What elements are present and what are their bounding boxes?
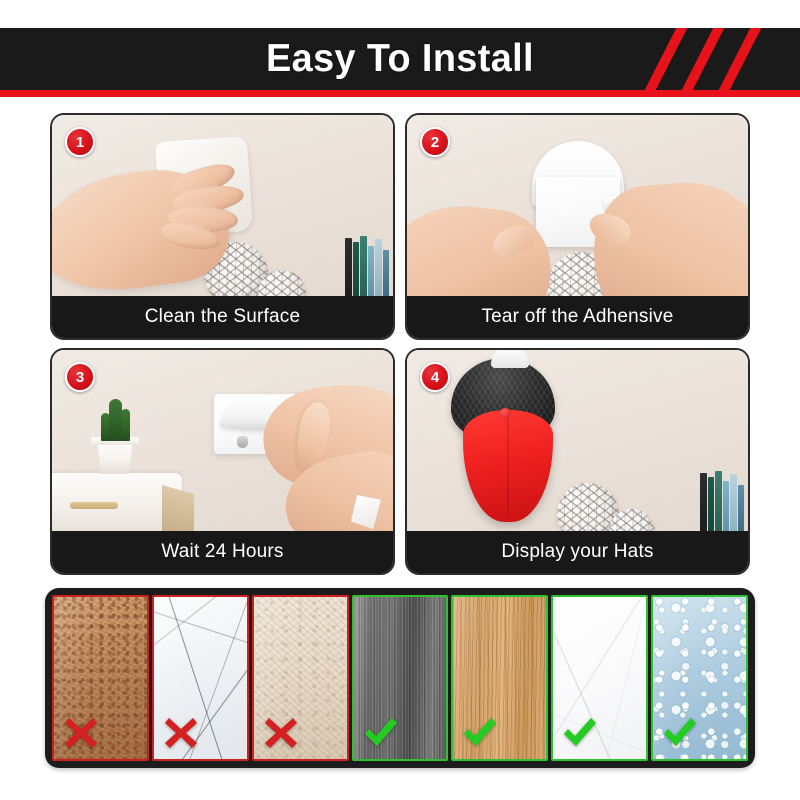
page-title: Easy To Install: [12, 37, 788, 81]
step-caption: Wait 24 Hours: [52, 531, 393, 573]
cross-icon: [61, 713, 101, 753]
step-caption: Display your Hats: [407, 531, 748, 573]
header-banner: Easy To Install: [0, 28, 800, 90]
book-spine: [375, 239, 382, 296]
step-number-badge: 3: [65, 362, 95, 392]
surface-swatch-marble: [551, 595, 648, 761]
step-3-photo: 3: [52, 350, 393, 531]
book-spine: [383, 250, 390, 296]
step-card-3: 3 Wait 24 Hours: [50, 348, 395, 575]
hook-peg: [237, 436, 248, 448]
wall-hook: [491, 350, 529, 368]
cap-top-button: [500, 408, 511, 419]
nightstand-side-panel: [162, 485, 194, 531]
book-spine: [345, 238, 352, 296]
check-icon: [660, 713, 700, 753]
check-icon: [460, 713, 500, 753]
check-icon: [560, 713, 600, 753]
book-spine: [715, 471, 722, 531]
step-caption: Tear off the Adhensive: [407, 296, 748, 338]
surface-swatch-wood: [451, 595, 548, 761]
header-accent-rule: [0, 90, 800, 97]
cross-icon: [261, 713, 301, 753]
book-spine: [700, 473, 707, 531]
step-card-1: 1 Clean the Surface: [50, 113, 395, 340]
bookshelf-decor: [700, 469, 744, 531]
step-number-badge: 1: [65, 127, 95, 157]
book-spine: [738, 485, 745, 531]
cross-icon: [161, 713, 201, 753]
book-spine: [360, 236, 367, 296]
book-spine: [730, 474, 737, 531]
step-number-badge: 2: [420, 127, 450, 157]
cap-seam: [507, 418, 509, 514]
surface-swatch-textured-stucco: [252, 595, 349, 761]
book-spine: [353, 242, 360, 296]
install-steps-grid: 1 Clean the Surface 2 Tear off the Adhen…: [50, 113, 750, 575]
surface-swatch-wet-glass: [651, 595, 748, 761]
book-spine: [708, 477, 715, 531]
book-spine: [368, 246, 375, 296]
book-spine: [723, 481, 730, 531]
surface-compatibility-strip: [45, 588, 755, 768]
surface-swatch-brick: [52, 595, 149, 761]
step-card-2: 2 Tear off the Adhensive: [405, 113, 750, 340]
bookshelf-decor: [345, 234, 389, 296]
step-number-badge: 4: [420, 362, 450, 392]
surface-swatch-brushed-metal: [352, 595, 449, 761]
surface-swatch-cracked-wall: [152, 595, 249, 761]
cactus-icon: [121, 409, 130, 441]
check-icon: [361, 713, 401, 753]
drawer-handle: [70, 502, 118, 509]
step-4-photo: 4: [407, 350, 748, 531]
step-caption: Clean the Surface: [52, 296, 393, 338]
cactus-icon: [109, 399, 122, 441]
step-2-photo: 2: [407, 115, 748, 296]
step-1-photo: 1: [52, 115, 393, 296]
step-card-4: 4 Display your Hats: [405, 348, 750, 575]
product-infographic: Easy To Install: [0, 0, 800, 800]
